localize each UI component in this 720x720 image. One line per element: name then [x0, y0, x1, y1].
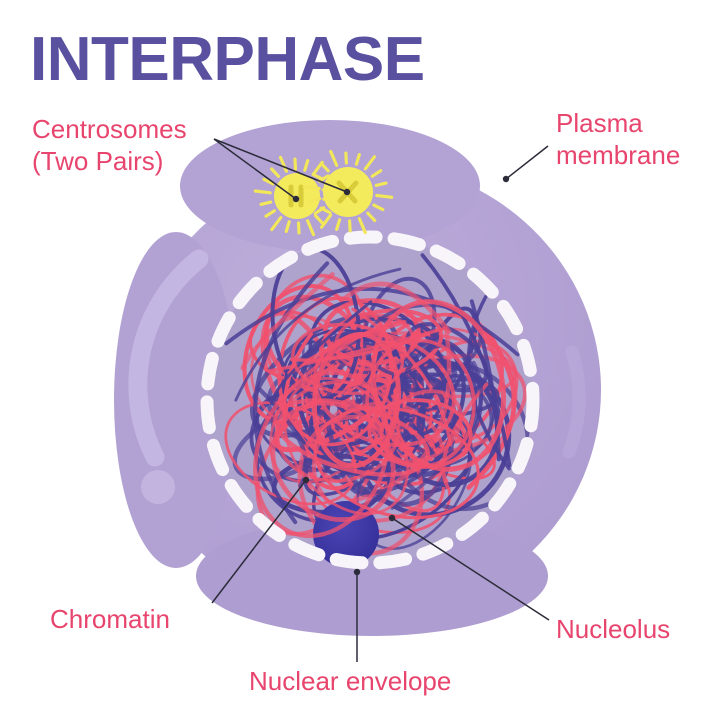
plasma-membrane-label: Plasmamembrane	[556, 108, 680, 170]
leader-plasma-membrane	[506, 146, 548, 179]
chromatin-label: Chromatin	[50, 604, 170, 634]
centrosome-spoke	[261, 202, 271, 204]
chromatin-label-line-1: Chromatin	[50, 604, 170, 634]
leader-nucleolus-endpoint	[389, 515, 395, 521]
centrosome-spoke	[295, 159, 296, 169]
centrosome-spoke	[299, 223, 300, 233]
cytoplasm-dot	[141, 470, 175, 504]
nucleolus-label: Nucleolus	[556, 614, 670, 644]
nucleolus-label-line-1: Nucleolus	[556, 614, 670, 644]
leader-centrosome-right-endpoint	[344, 189, 350, 195]
page-title: INTERPHASE	[30, 25, 425, 94]
centrosomes-label-line-2: (Two Pairs)	[32, 146, 163, 176]
leader-nuclear-envelope-endpoint	[354, 569, 360, 575]
plasma-membrane-label-line-2: membrane	[556, 140, 680, 170]
centrosome-spoke	[376, 183, 386, 185]
plasma-membrane-label-line-1: Plasma	[556, 108, 643, 138]
interphase-diagram: INTERPHASE Centrosomes(Two Pairs)Plasmam…	[0, 0, 720, 720]
centrosomes-label: Centrosomes(Two Pairs)	[32, 114, 187, 176]
centrosomes-label-line-1: Centrosomes	[32, 114, 187, 144]
centrosome-spoke	[350, 221, 351, 231]
leader-centrosome-left-endpoint	[293, 196, 299, 202]
centrosome-spoke	[377, 196, 392, 198]
nuclear-envelope-label-line-1: Nuclear envelope	[249, 666, 451, 696]
leader-chromatin-endpoint	[303, 477, 309, 483]
cell-diagram-canvas: INTERPHASE Centrosomes(Two Pairs)Plasmam…	[0, 0, 720, 720]
leader-plasma-membrane-endpoint	[503, 176, 509, 182]
centrosome-spoke	[304, 187, 319, 189]
centrosome-spoke	[346, 153, 347, 163]
centrosome-spoke	[255, 191, 270, 193]
nuclear-envelope-label: Nuclear envelope	[249, 666, 451, 696]
centrosome-spoke	[310, 199, 320, 201]
